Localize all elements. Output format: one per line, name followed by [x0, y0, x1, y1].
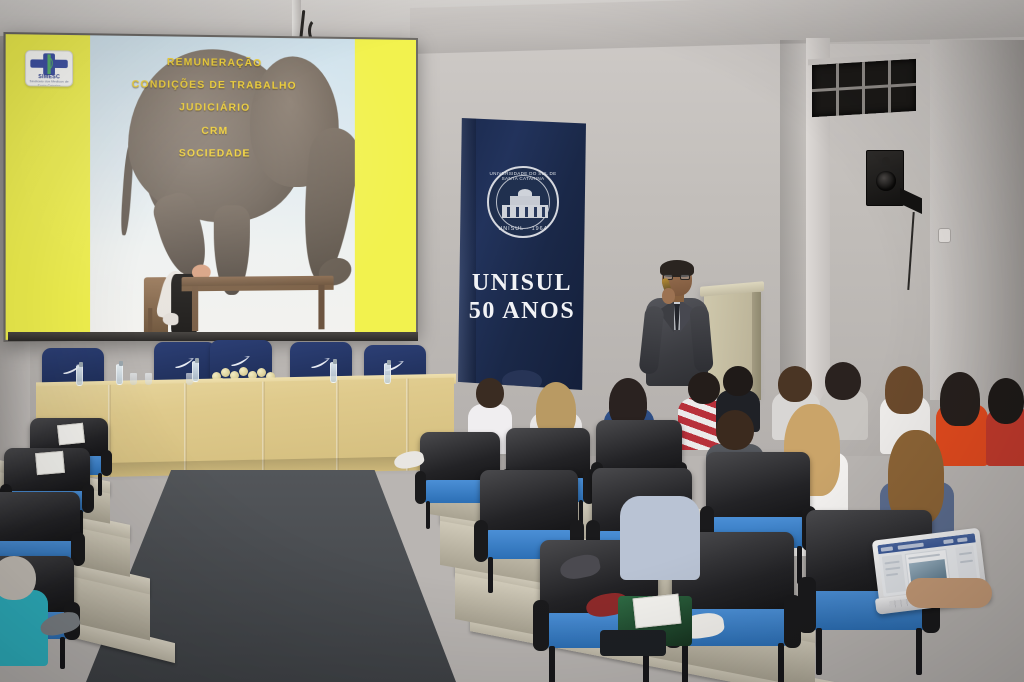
- auditorium-scene: REMUNERAÇÃO CONDIÇÕES DE TRABALHO JUDICI…: [0, 0, 1024, 682]
- handout-paper: [35, 451, 65, 475]
- slide-image-area: [90, 35, 354, 338]
- banner-line-1: UNISUL: [458, 270, 586, 297]
- handout-paper: [57, 423, 85, 446]
- simesc-logo-subtitle: Sindicato dos Medicos de Santa Catarina: [26, 79, 73, 87]
- water-bottle: [384, 363, 391, 384]
- caduceus-snake: [46, 57, 53, 69]
- wall-outlet-icon: [938, 228, 951, 243]
- tweeter: [882, 157, 890, 165]
- drinking-glass: [186, 373, 193, 385]
- slide: REMUNERAÇÃO CONDIÇÕES DE TRABALHO JUDICI…: [6, 34, 416, 340]
- right-wall-column: [930, 40, 1024, 400]
- water-bottle: [116, 364, 123, 385]
- screen-bottom-bar: [8, 332, 418, 341]
- wall-speaker-icon: [866, 150, 904, 206]
- unisul-banner: UNIVERSIDADE DO SUL DE SANTA CATARINA UN…: [458, 118, 586, 390]
- drinking-glass: [130, 373, 137, 385]
- slide-person-shoe: [163, 313, 179, 325]
- simesc-logo-icon: SIMESC Sindicato dos Medicos de Santa Ca…: [25, 50, 74, 87]
- window-grille-icon: [812, 59, 916, 117]
- slide-band-right: [354, 39, 416, 335]
- seal-building-icon: [502, 188, 548, 218]
- handout-paper: [633, 594, 682, 629]
- slide-table-apron: [182, 285, 334, 291]
- audience-person: [0, 556, 56, 666]
- water-bottle: [330, 362, 337, 383]
- water-bottle: [76, 365, 83, 386]
- chair-swoosh-icon: [310, 357, 332, 369]
- seal-bottom-text: UNISUL · 1964: [489, 226, 557, 232]
- bag: [600, 630, 666, 656]
- seal-top-text: UNIVERSIDADE DO SUL DE SANTA CATARINA: [489, 171, 557, 181]
- presenter-hand: [662, 288, 675, 304]
- audience-person: [620, 470, 700, 580]
- audience-person: [986, 378, 1024, 464]
- laptop-user-arm: [906, 578, 992, 632]
- drinking-glass: [145, 373, 152, 385]
- screen-surface: REMUNERAÇÃO CONDIÇÕES DE TRABALHO JUDICI…: [6, 34, 416, 340]
- woofer: [876, 171, 896, 191]
- slide-table-leg-right: [318, 285, 324, 330]
- water-bottle: [192, 361, 199, 382]
- banner-line-2: 50 ANOS: [458, 298, 586, 325]
- projection-screen: REMUNERAÇÃO CONDIÇÕES DE TRABALHO JUDICI…: [3, 32, 418, 342]
- unisul-seal-icon: UNIVERSIDADE DO SUL DE SANTA CATARINA UN…: [487, 166, 559, 238]
- slide-table-leg-left: [192, 286, 198, 331]
